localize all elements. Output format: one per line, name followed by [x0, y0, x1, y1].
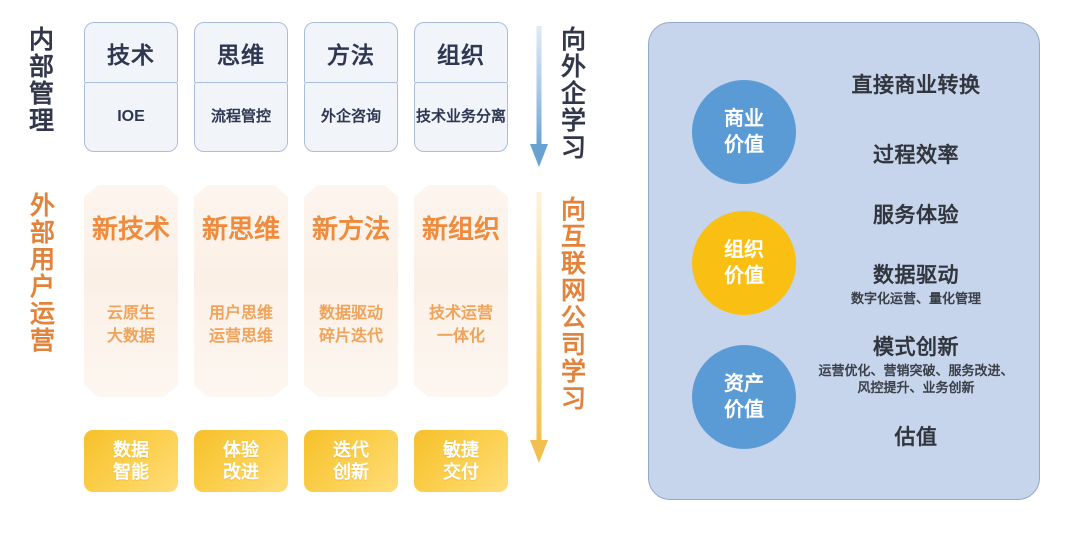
value-item-service-experience: 服务体验 [801, 203, 1031, 228]
value-item-main: 估值 [801, 425, 1031, 450]
down-arrow-blue-icon [527, 26, 551, 168]
top-card-title: 方法 [304, 22, 398, 84]
side-label-learn-from-internet-companies: 向互联网公司学习 [558, 196, 585, 461]
top-card-technology[interactable]: 技术 IOE [84, 22, 180, 152]
mid-card-subtitle: 数据驱动碎片迭代 [319, 302, 383, 348]
circle-business-value[interactable]: 商业价值 [692, 80, 796, 184]
top-card-subtitle: 外企咨询 [304, 82, 398, 152]
top-card-title: 思维 [194, 22, 288, 84]
value-item-main: 过程效率 [801, 143, 1031, 168]
value-item-main: 模式创新 [801, 335, 1031, 360]
mid-card-title: 新思维 [202, 215, 280, 244]
side-label-external-user-operation: 外部用户运营 [27, 192, 54, 402]
circle-asset-value[interactable]: 资产价值 [692, 345, 796, 449]
mid-card-title: 新方法 [312, 215, 390, 244]
mid-card-subtitle: 云原生大数据 [107, 302, 155, 348]
right-value-panel: 商业价值 组织价值 资产价值 直接商业转换 过程效率 服务体验 数据驱动 数字化… [648, 22, 1040, 500]
mid-card-title: 新技术 [92, 215, 170, 244]
side-label-learn-from-foreign-companies: 向外企学习 [558, 26, 585, 171]
mid-card-new-technology[interactable]: 新技术 云原生大数据 [84, 185, 178, 397]
value-item-process-efficiency: 过程效率 [801, 143, 1031, 168]
value-item-model-innovation: 模式创新 运营优化、营销突破、服务改进、风控提升、业务创新 [801, 335, 1031, 397]
top-card-subtitle: 流程管控 [194, 82, 288, 152]
value-item-main: 数据驱动 [801, 263, 1031, 288]
top-card-subtitle: 技术业务分离 [414, 82, 508, 152]
circle-organization-value[interactable]: 组织价值 [692, 211, 796, 315]
bottom-pill-iterative-innovation[interactable]: 迭代创新 [304, 430, 398, 492]
top-card-title: 组织 [414, 22, 508, 84]
bottom-pill-agile-delivery[interactable]: 敏捷交付 [414, 430, 508, 492]
top-card-method[interactable]: 方法 外企咨询 [304, 22, 400, 152]
value-item-sub: 运营优化、营销突破、服务改进、风控提升、业务创新 [801, 362, 1031, 396]
value-item-data-driven: 数据驱动 数字化运营、量化管理 [801, 263, 1031, 307]
mid-card-subtitle: 技术运营一体化 [429, 302, 493, 348]
down-arrow-orange-icon [527, 192, 551, 464]
mid-card-new-organization[interactable]: 新组织 技术运营一体化 [414, 185, 508, 397]
value-item-main: 直接商业转换 [801, 73, 1031, 98]
mid-card-new-mindset[interactable]: 新思维 用户思维运营思维 [194, 185, 288, 397]
value-item-main: 服务体验 [801, 203, 1031, 228]
mid-card-subtitle: 用户思维运营思维 [209, 302, 273, 348]
side-label-internal-management: 内部管理 [26, 26, 53, 156]
top-card-mindset[interactable]: 思维 流程管控 [194, 22, 290, 152]
mid-card-new-method[interactable]: 新方法 数据驱动碎片迭代 [304, 185, 398, 397]
middle-row-new-capability-banners: 新技术 云原生大数据 新思维 用户思维运营思维 新方法 数据驱动碎片迭代 新组织… [84, 185, 524, 400]
value-item-valuation: 估值 [801, 425, 1031, 450]
top-card-organization[interactable]: 组织 技术业务分离 [414, 22, 510, 152]
value-item-sub: 数字化运营、量化管理 [801, 290, 1031, 307]
left-transformation-panel: 内部管理 外部用户运营 向外企学习 向互联网公司学习 技术 IOE 思维 流程管… [0, 0, 640, 536]
bottom-row-outcome-pills: 数据智能 体验改进 迭代创新 敏捷交付 [84, 430, 524, 494]
mid-card-title: 新组织 [422, 215, 500, 244]
top-row-legacy-cards: 技术 IOE 思维 流程管控 方法 外企咨询 组织 技术业务分离 [84, 22, 524, 152]
diagram-canvas: 内部管理 外部用户运营 向外企学习 向互联网公司学习 技术 IOE 思维 流程管… [0, 0, 1080, 536]
top-card-title: 技术 [84, 22, 178, 84]
bottom-pill-data-intelligence[interactable]: 数据智能 [84, 430, 178, 492]
value-item-direct-commercial-conversion: 直接商业转换 [801, 73, 1031, 98]
top-card-subtitle: IOE [84, 82, 178, 152]
bottom-pill-experience-improvement[interactable]: 体验改进 [194, 430, 288, 492]
